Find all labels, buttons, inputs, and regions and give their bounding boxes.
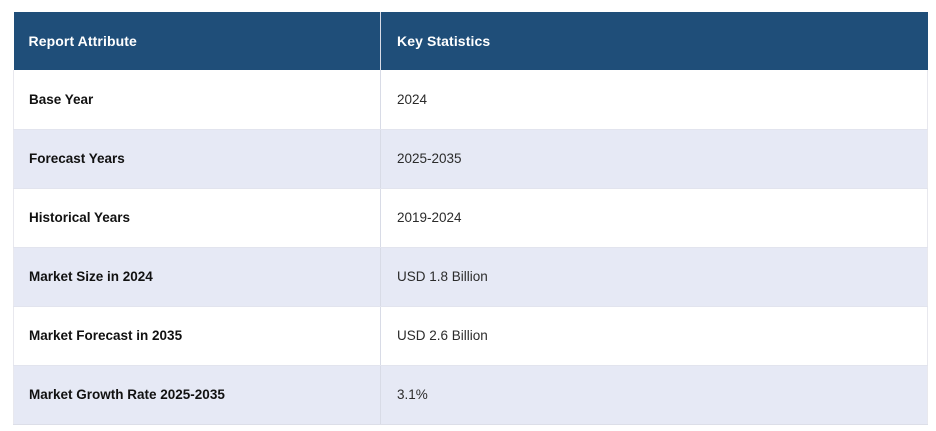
- cell-report-attribute: Market Forecast in 2035: [14, 306, 381, 365]
- cell-key-statistic: 2024: [381, 70, 928, 129]
- table-row: Historical Years 2019-2024: [14, 188, 928, 247]
- cell-report-attribute: Market Growth Rate 2025-2035: [14, 365, 381, 424]
- table-row: Market Forecast in 2035 USD 2.6 Billion: [14, 306, 928, 365]
- cell-key-statistic: USD 2.6 Billion: [381, 306, 928, 365]
- report-summary-table: Report Attribute Key Statistics Base Yea…: [13, 12, 928, 425]
- cell-key-statistic: 3.1%: [381, 365, 928, 424]
- cell-report-attribute: Market Size in 2024: [14, 247, 381, 306]
- cell-key-statistic: 2025-2035: [381, 129, 928, 188]
- column-header-key-statistics: Key Statistics: [381, 12, 928, 70]
- table-row: Forecast Years 2025-2035: [14, 129, 928, 188]
- table-header: Report Attribute Key Statistics: [14, 12, 928, 70]
- table-header-row: Report Attribute Key Statistics: [14, 12, 928, 70]
- cell-report-attribute: Forecast Years: [14, 129, 381, 188]
- column-header-report-attribute: Report Attribute: [14, 12, 381, 70]
- report-summary-table-container: Report Attribute Key Statistics Base Yea…: [13, 12, 928, 425]
- table-row: Market Growth Rate 2025-2035 3.1%: [14, 365, 928, 424]
- cell-report-attribute: Base Year: [14, 70, 381, 129]
- cell-key-statistic: USD 1.8 Billion: [381, 247, 928, 306]
- table-body: Base Year 2024 Forecast Years 2025-2035 …: [14, 70, 928, 424]
- cell-key-statistic: 2019-2024: [381, 188, 928, 247]
- cell-report-attribute: Historical Years: [14, 188, 381, 247]
- table-row: Base Year 2024: [14, 70, 928, 129]
- table-row: Market Size in 2024 USD 1.8 Billion: [14, 247, 928, 306]
